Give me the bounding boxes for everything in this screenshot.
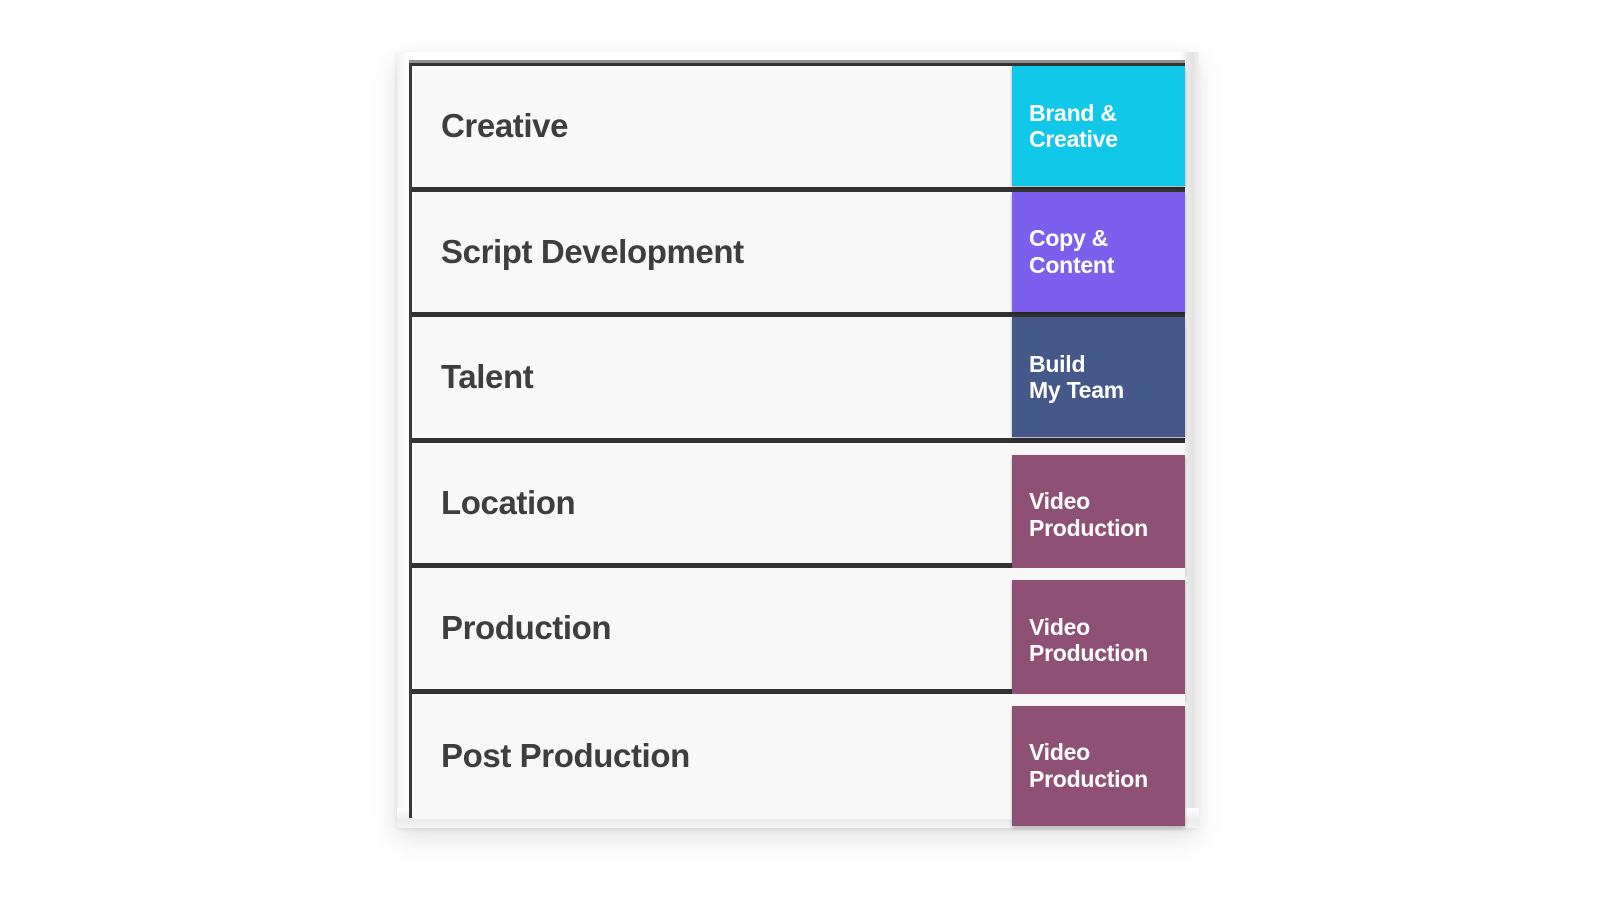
category-tag[interactable]: Build My Team: [1012, 317, 1185, 437]
workflow-row[interactable]: TalentBuild My Team: [412, 317, 1185, 443]
workflow-row[interactable]: LocationVideo Production: [412, 443, 1185, 569]
screenshot-stage: CreativeBrand & CreativeScript Developme…: [0, 0, 1600, 899]
workflow-stage-table: CreativeBrand & CreativeScript Developme…: [409, 60, 1185, 818]
workflow-row[interactable]: CreativeBrand & Creative: [412, 66, 1185, 192]
category-tag[interactable]: Brand & Creative: [1012, 66, 1185, 186]
workflow-row-list: CreativeBrand & CreativeScript Developme…: [412, 66, 1185, 813]
category-tag[interactable]: Video Production: [1012, 455, 1185, 575]
category-tag[interactable]: Copy & Content: [1012, 192, 1185, 312]
workflow-row[interactable]: Post ProductionVideo Production: [412, 694, 1185, 820]
workflow-row[interactable]: ProductionVideo Production: [412, 568, 1185, 694]
workflow-row[interactable]: Script DevelopmentCopy & Content: [412, 192, 1185, 318]
category-tag[interactable]: Video Production: [1012, 580, 1185, 700]
category-tag[interactable]: Video Production: [1012, 706, 1185, 826]
